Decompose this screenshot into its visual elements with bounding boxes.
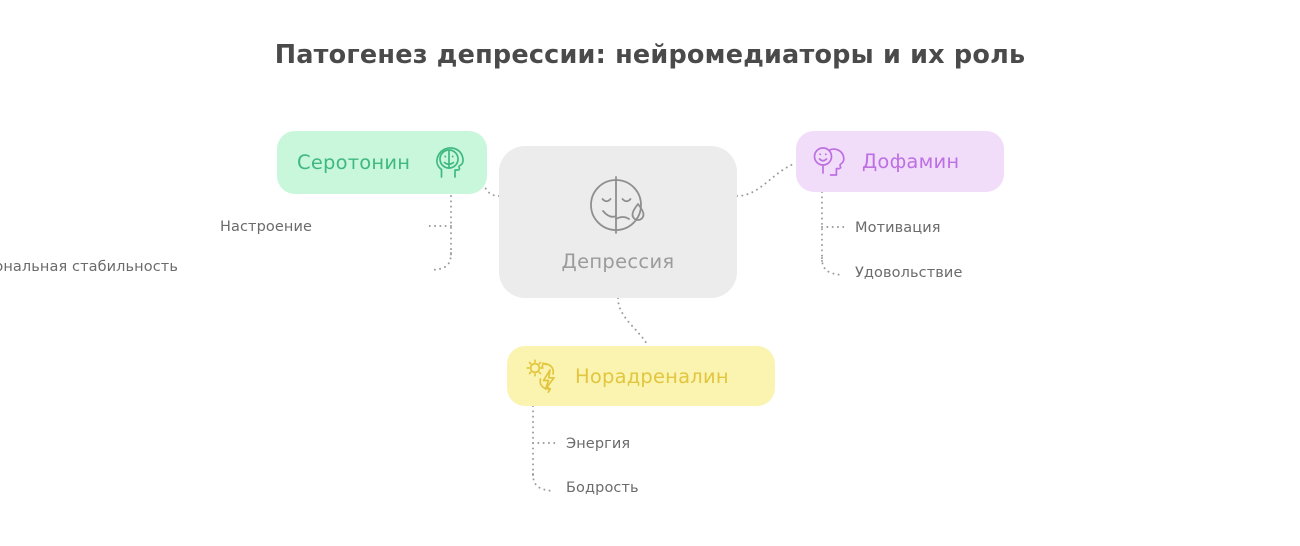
node-noradrenaline[interactable]: Норадреналин: [507, 346, 775, 406]
head-with-balanced-face-icon: [433, 145, 469, 181]
sublabel-serotonin-stability: Эмоциональная стабильность: [0, 259, 178, 275]
edge-serotonin-stability: [432, 253, 451, 270]
node-serotonin-label: Серотонин: [297, 151, 410, 174]
edge-center-dopamine: [737, 163, 796, 196]
sublabel-serotonin-mood: Настроение: [220, 219, 312, 235]
node-depression[interactable]: Депрессия: [499, 146, 737, 298]
page-title: Патогенез депрессии: нейромедиаторы и их…: [0, 40, 1300, 70]
node-noradrenaline-label: Норадреналин: [575, 365, 729, 388]
edge-dopamine-pleasure: [822, 258, 843, 275]
sublabel-dopamine-pleasure: Удовольствие: [855, 265, 962, 281]
edge-center-noradrenaline: [618, 298, 648, 346]
split-face-sad-happy-icon: [583, 172, 653, 238]
diagram-canvas: Патогенез депрессии: нейромедиаторы и их…: [0, 0, 1300, 546]
node-serotonin[interactable]: Серотонин: [277, 131, 487, 194]
edge-noradrenaline-vigor: [533, 474, 554, 491]
node-dopamine[interactable]: Дофамин: [796, 131, 1004, 192]
node-depression-label: Депрессия: [562, 250, 675, 273]
sublabel-dopamine-motivation: Мотивация: [855, 220, 941, 236]
sun-lightning-energy-icon: [524, 357, 562, 395]
node-dopamine-label: Дофамин: [862, 150, 959, 173]
head-with-smiley-face-icon: [812, 144, 848, 180]
sublabel-noradrenaline-vigor: Бодрость: [566, 480, 639, 496]
sublabel-noradrenaline-energy: Энергия: [566, 436, 630, 452]
